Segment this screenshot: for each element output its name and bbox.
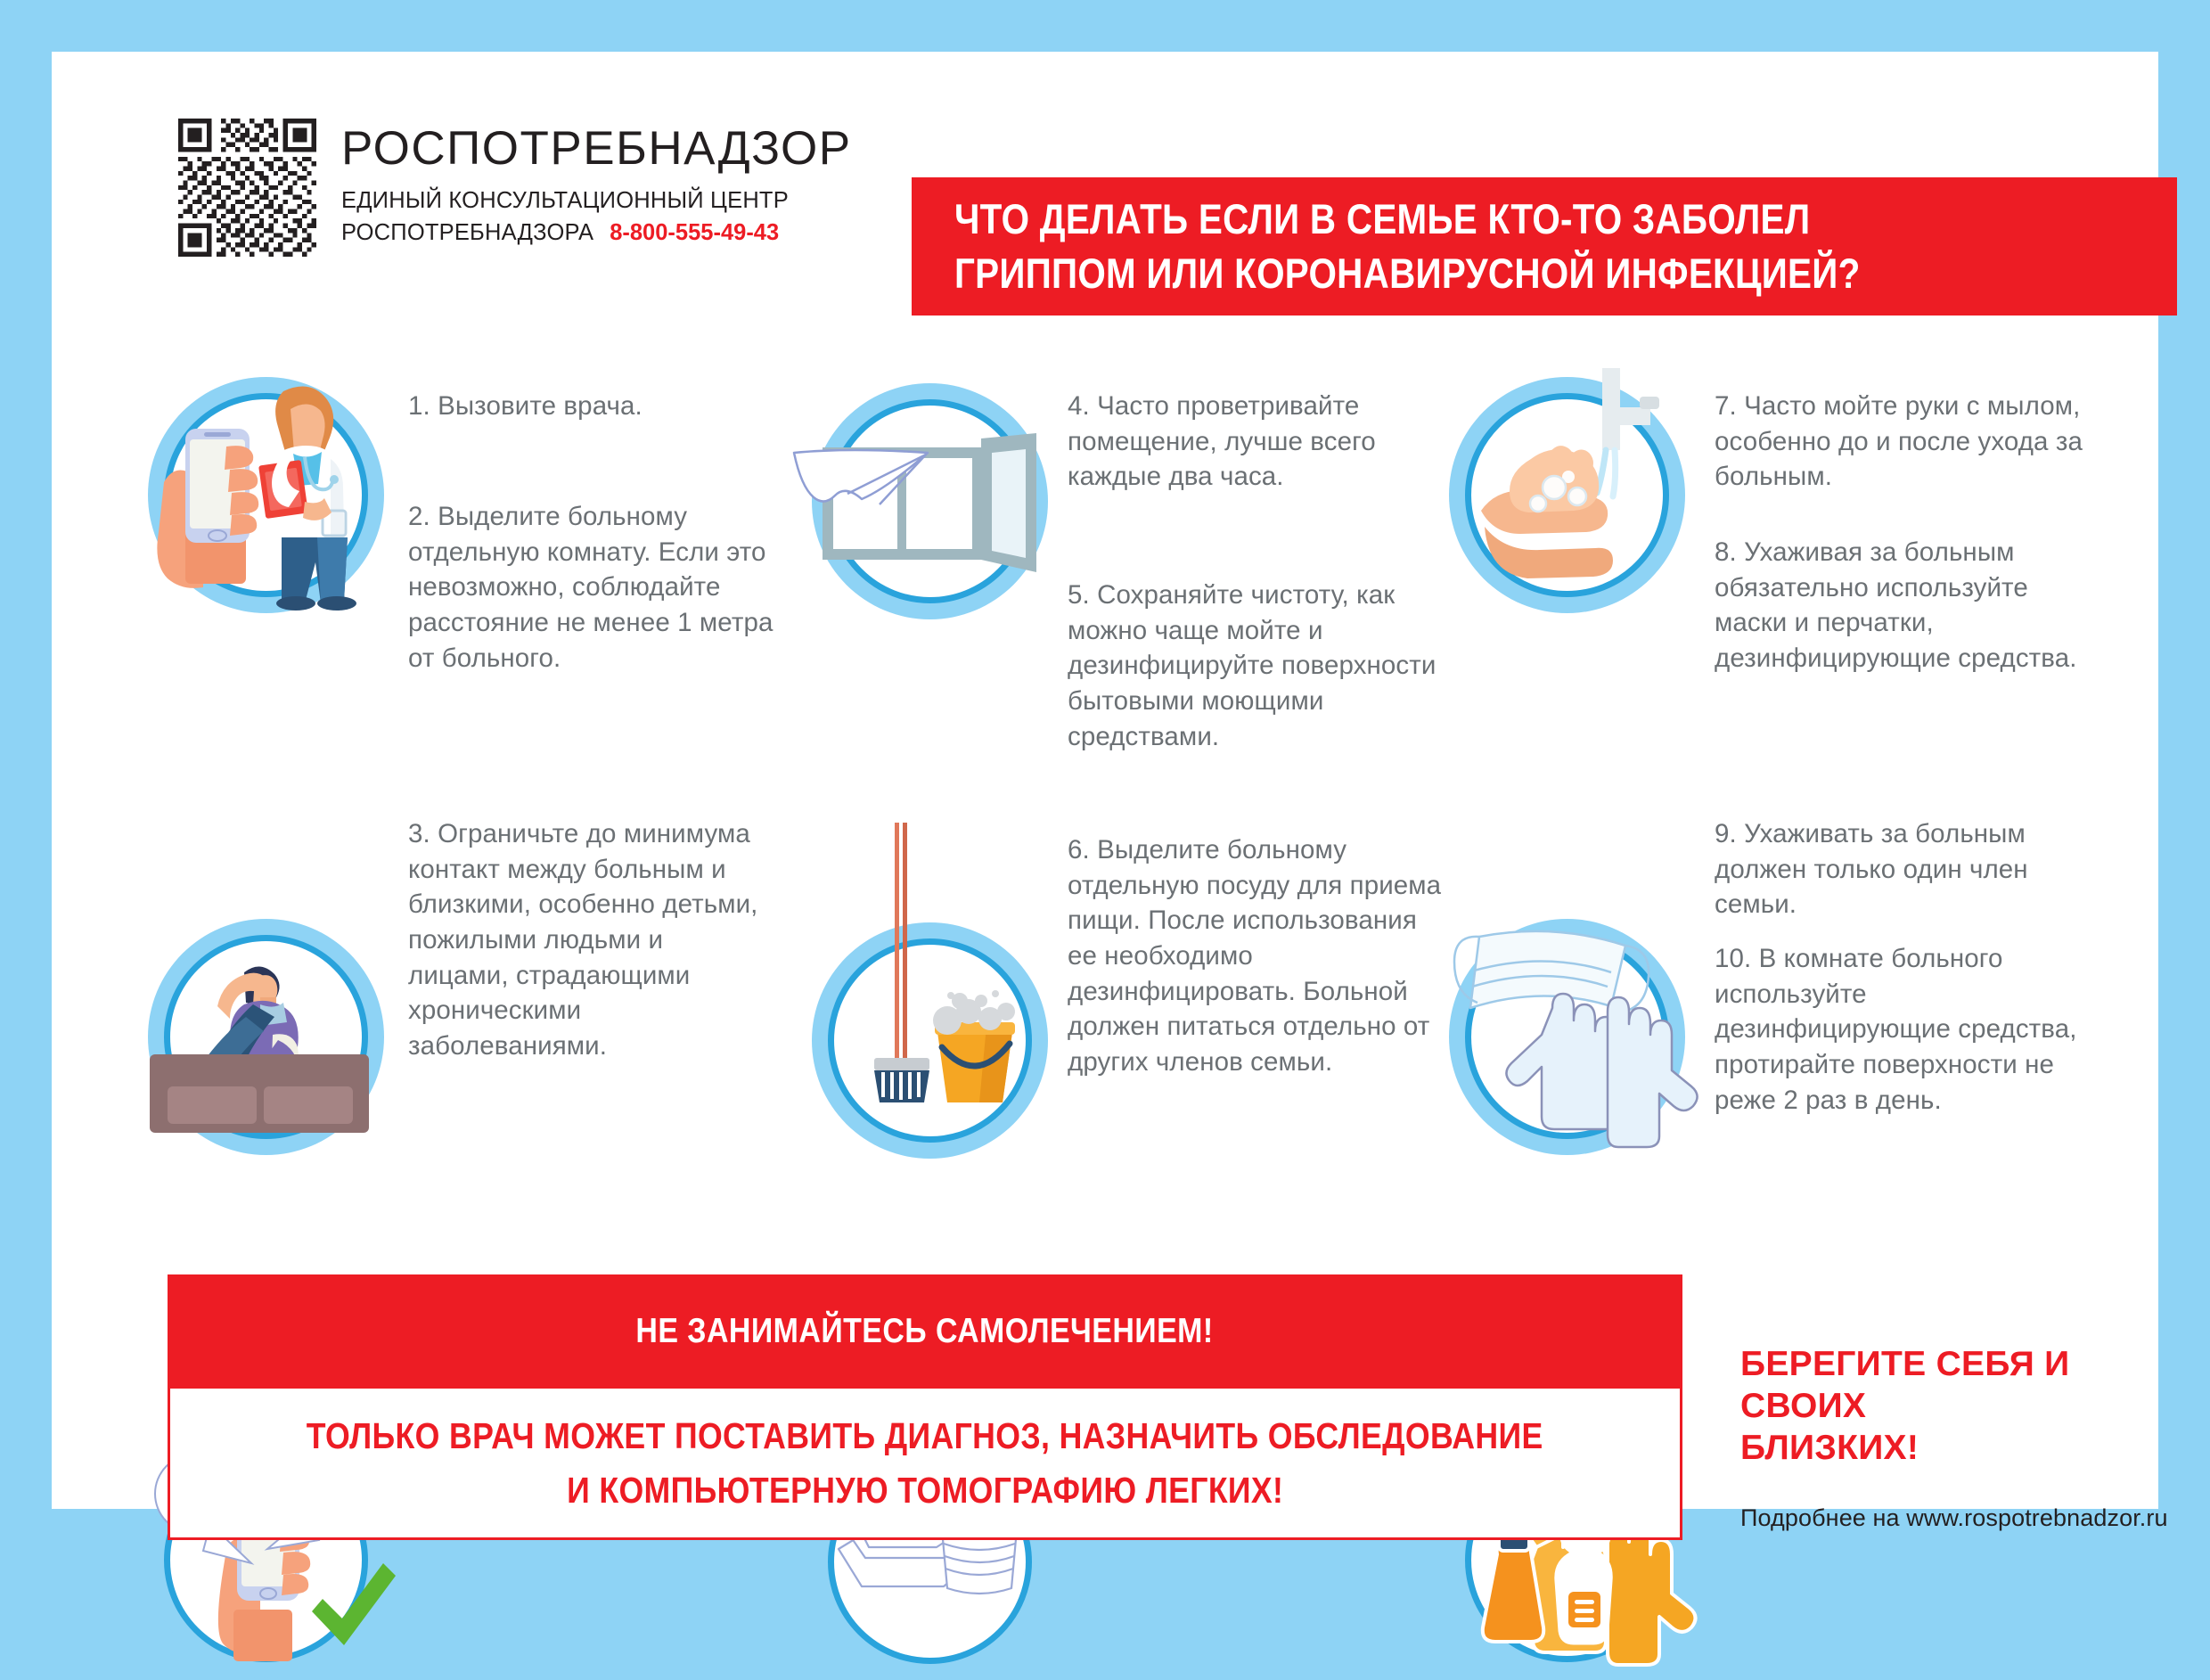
mask-and-gloves-icon — [1449, 919, 1685, 1155]
steps-area: 1. Вызовите врача. 2. Выделите больному … — [132, 346, 2110, 1237]
brand-block: РОСПОТРЕБНАДЗОР ЕДИНЫЙ КОНСУЛЬТАЦИОННЫЙ … — [178, 119, 852, 257]
step-9-text: 9. Ухаживать за больным должен только од… — [1715, 816, 2098, 922]
step-3-text: 3. Ограничьте до минимума контакт между … — [408, 816, 769, 1064]
self-medication-warning-text: НЕ ЗАНИМАЙТЕСЬ САМОЛЕЧЕНИЕМ! — [636, 1312, 1214, 1351]
doctor-phone-call-icon — [148, 377, 384, 613]
steps-column-3: 7. Часто мойте руки с мылом, особенно до… — [1433, 346, 2110, 1237]
step-6-text: 6. Выделите больному отдельную посуду дл… — [1068, 832, 1442, 1080]
poster-canvas: РОСПОТРЕБНАДЗОР ЕДИНЫЙ КОНСУЛЬТАЦИОННЫЙ … — [52, 52, 2158, 1509]
doctor-diagnosis-notice: ТОЛЬКО ВРАЧ МОЖЕТ ПОСТАВИТЬ ДИАГНОЗ, НАЗ… — [168, 1389, 1682, 1540]
self-medication-warning-banner: НЕ ЗАНИМАЙТЕСЬ САМОЛЕЧЕНИЕМ! — [168, 1274, 1682, 1389]
consultation-center-line: ЕДИНЫЙ КОНСУЛЬТАЦИОННЫЙ ЦЕНТР — [341, 184, 852, 217]
title-banner: ЧТО ДЕЛАТЬ ЕСЛИ В СЕМЬЕ КТО-ТО ЗАБОЛЕЛ Г… — [912, 177, 2177, 316]
notice-line-2: И КОМПЬЮТЕРНУЮ ТОМОГРАФИЮ ЛЕГКИХ! — [567, 1470, 1283, 1512]
open-window-ventilation-icon — [812, 383, 1048, 619]
sick-person-on-sofa-icon — [148, 919, 384, 1155]
closing-line-1: БЕРЕГИТЕ СЕБЯ И СВОИХ — [1740, 1344, 2186, 1428]
steps-column-2: 4. Часто проветривайте помещение, лучше … — [796, 346, 1455, 1237]
hotline-phone-number: 8-800-555-49-43 — [610, 217, 779, 249]
title-line-1: ЧТО ДЕЛАТЬ ЕСЛИ В СЕМЬЕ КТО-ТО ЗАБОЛЕЛ — [954, 193, 2006, 246]
poster-header: РОСПОТРЕБНАДЗОР ЕДИНЫЙ КОНСУЛЬТАЦИОННЫЙ … — [132, 119, 2092, 288]
step-2-text: 2. Выделите больному отдельную комнату. … — [408, 499, 778, 676]
step-7-text: 7. Часто мойте руки с мылом, особенно до… — [1715, 389, 2098, 495]
brand-text: РОСПОТРЕБНАДЗОР ЕДИНЫЙ КОНСУЛЬТАЦИОННЫЙ … — [341, 119, 852, 250]
step-4-text: 4. Часто проветривайте помещение, лучше … — [1068, 389, 1442, 495]
notice-line-1: ТОЛЬКО ВРАЧ МОЖЕТ ПОСТАВИТЬ ДИАГНОЗ, НАЗ… — [307, 1415, 1543, 1457]
step-10-text: 10. В комнате больного используйте дезин… — [1715, 941, 2098, 1118]
organization-name: РОСПОТРЕБНАДЗОР — [341, 124, 852, 173]
title-line-2: ГРИППОМ ИЛИ КОРОНАВИРУСНОЙ ИНФЕКЦИЕЙ? — [954, 247, 2006, 300]
brand-subtitle: ЕДИНЫЙ КОНСУЛЬТАЦИОННЫЙ ЦЕНТР РОСПОТРЕБН… — [341, 184, 852, 249]
consultation-center-org: РОСПОТРЕБНАДЗОРА — [341, 217, 593, 249]
mop-and-bucket-icon — [812, 922, 1048, 1159]
qr-code-icon — [178, 119, 316, 257]
step-1-text: 1. Вызовите врача. — [408, 389, 765, 424]
closing-message: БЕРЕГИТЕ СЕБЯ И СВОИХ БЛИЗКИХ! Подробнее… — [1740, 1344, 2186, 1532]
website-link[interactable]: Подробнее на www.rospotrebnadzor.ru — [1740, 1504, 2186, 1532]
step-5-text: 5. Сохраняйте чистоту, как можно чаще мо… — [1068, 578, 1442, 754]
handwashing-faucet-icon — [1449, 377, 1685, 613]
step-8-text: 8. Ухаживая за больным обязательно испол… — [1715, 535, 2098, 676]
closing-line-2: БЛИЗКИХ! — [1740, 1428, 2186, 1470]
steps-column-1: 1. Вызовите врача. 2. Выделите больному … — [132, 346, 818, 1237]
